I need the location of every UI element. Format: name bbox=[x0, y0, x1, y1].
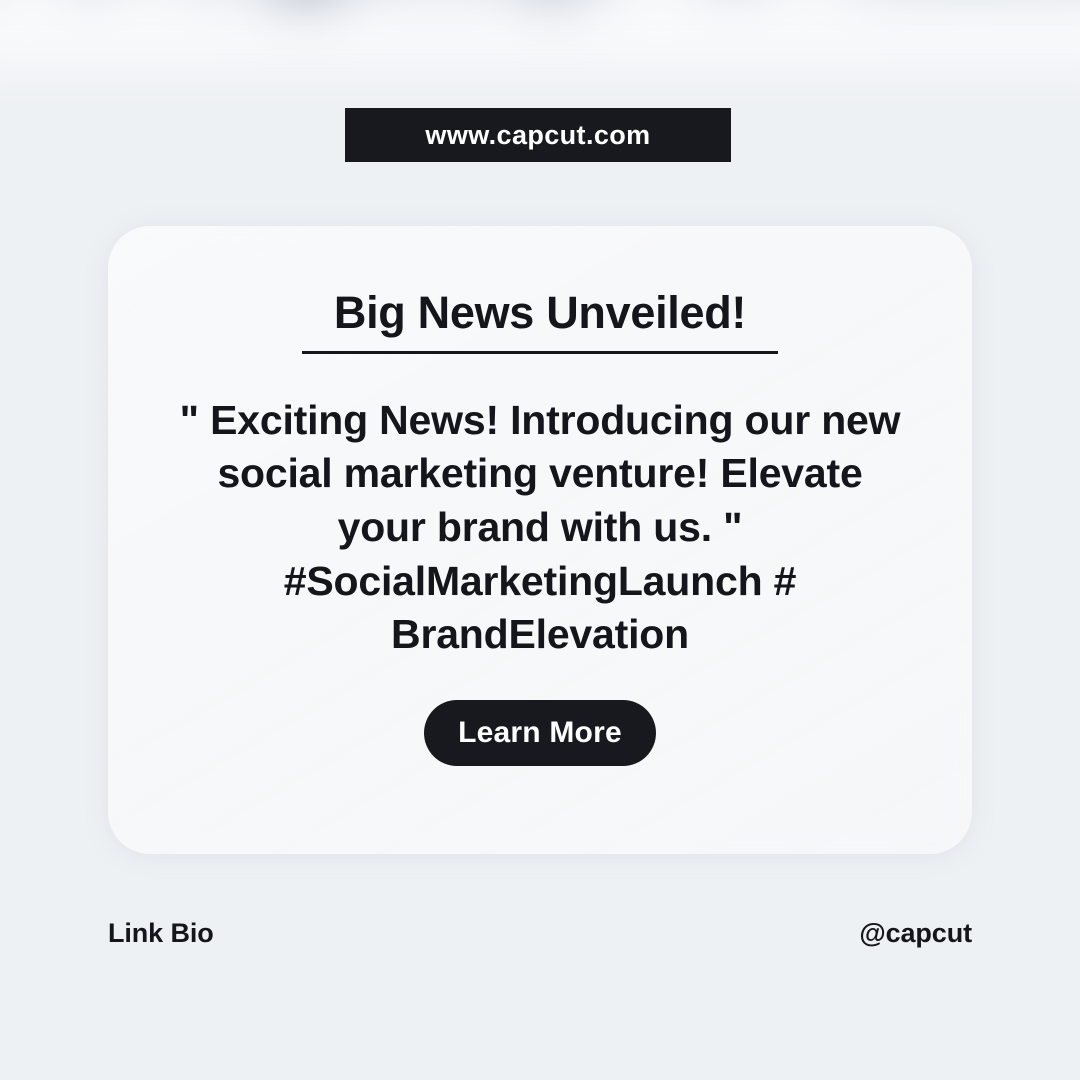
background-blue-desk bbox=[0, 0, 1080, 60]
background-base-gradient bbox=[0, 0, 1080, 60]
website-url-badge: www.capcut.com bbox=[345, 108, 731, 162]
background-light-streaks bbox=[0, 0, 1080, 60]
background-people-right bbox=[0, 0, 1080, 60]
background-people-center bbox=[0, 0, 1080, 60]
announcement-card: Big News Unveiled! " Exciting News! Intr… bbox=[108, 226, 972, 854]
card-body-text: " Exciting News! Introducing our new soc… bbox=[170, 394, 910, 663]
social-handle-label[interactable]: @capcut bbox=[859, 920, 972, 947]
heading-underline-rule bbox=[302, 351, 778, 354]
footer-bar: Link Bio @capcut bbox=[0, 908, 1080, 958]
learn-more-button[interactable]: Learn More bbox=[424, 700, 656, 766]
background-ceiling-band bbox=[0, 0, 1080, 60]
background-warm-accent bbox=[0, 0, 1080, 60]
social-post-canvas: www.capcut.com Big News Unveiled! " Exci… bbox=[0, 0, 1080, 1080]
background-teal-accents bbox=[0, 0, 1080, 60]
background-haze-overlay bbox=[0, 0, 1080, 60]
card-heading-text: Big News Unveiled! bbox=[334, 287, 746, 338]
card-heading: Big News Unveiled! bbox=[334, 288, 746, 354]
website-url-text: www.capcut.com bbox=[425, 122, 650, 149]
link-bio-label[interactable]: Link Bio bbox=[108, 920, 214, 947]
